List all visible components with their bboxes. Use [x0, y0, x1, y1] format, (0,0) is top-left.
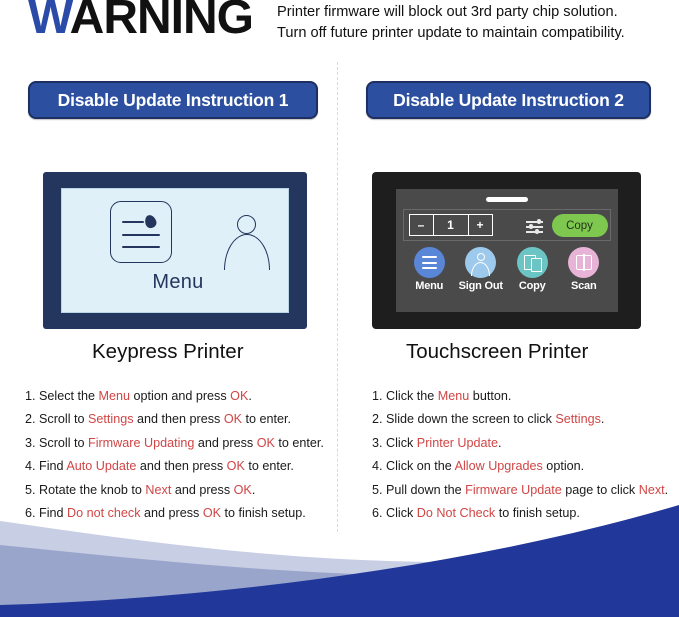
instruction-text: to enter. [245, 459, 294, 473]
scan-icon-beam [583, 254, 585, 271]
app-menu-label: Menu [406, 280, 452, 292]
hamburger-icon-line-3 [422, 267, 437, 269]
instruction-text: and then press [136, 459, 226, 473]
instruction-text: . [248, 389, 252, 403]
instruction-text: . [601, 412, 605, 426]
instruction-step: 1. Click the Menu button. [372, 390, 672, 403]
hamburger-icon-line-1 [422, 256, 437, 258]
instruction-highlight: Printer Update [417, 436, 498, 450]
hamburger-icon-line-2 [422, 262, 437, 264]
person-icon-head [237, 215, 256, 234]
decorative-swoosh [0, 487, 679, 617]
settings-sliders-icon[interactable] [526, 218, 543, 235]
instruction-highlight: Settings [88, 412, 134, 426]
header-description: Printer firmware will block out 3rd part… [277, 2, 677, 44]
person-icon [224, 215, 270, 259]
instruction-text: to enter. [275, 436, 324, 450]
touchscreen-screen: – 1 + Copy [396, 189, 618, 312]
person-icon[interactable] [465, 247, 496, 278]
menu-icon-line-3 [122, 246, 160, 248]
instruction-text: 3. Click [372, 436, 417, 450]
warning-title-rest: ARNING [70, 0, 253, 44]
column-divider [337, 62, 338, 532]
hamburger-icon[interactable] [414, 247, 445, 278]
instruction-text: 3. Scroll to [25, 436, 88, 450]
app-copy-label: Copy [509, 280, 555, 292]
app-sign-out-label: Sign Out [458, 280, 504, 292]
keypress-printer-illustration: Menu [43, 172, 307, 329]
menu-document-icon [110, 201, 172, 263]
instruction-step: 4. Find Auto Update and then press OK to… [25, 460, 335, 473]
header-line-2: Turn off future printer update to mainta… [277, 23, 677, 44]
touchscreen-app-row: Menu Sign Out Copy [404, 247, 610, 292]
instruction-text: 4. Click on the [372, 459, 455, 473]
banner-instruction-1: Disable Update Instruction 1 [28, 81, 318, 119]
instruction-text: 2. Slide down the screen to click [372, 412, 555, 426]
instruction-text: 2. Scroll to [25, 412, 88, 426]
instruction-highlight: OK [257, 436, 275, 450]
copy-action-button[interactable]: Copy [552, 214, 608, 237]
app-sign-out[interactable]: Sign Out [458, 247, 504, 292]
app-scan[interactable]: Scan [561, 247, 607, 292]
touchscreen-printer-title: Touchscreen Printer [406, 340, 588, 364]
instruction-text: and press [194, 436, 256, 450]
stepper-plus-button[interactable]: + [468, 215, 492, 235]
instruction-highlight: Settings [555, 412, 601, 426]
banner-instruction-2: Disable Update Instruction 2 [366, 81, 651, 119]
person-icon-head [477, 253, 485, 261]
warning-title-w: W [28, 0, 70, 44]
instruction-highlight: Allow Upgrades [455, 459, 543, 473]
instruction-text: and then press [134, 412, 224, 426]
touchscreen-printer-illustration: – 1 + Copy [372, 172, 641, 329]
instruction-text: button. [469, 389, 511, 403]
app-copy[interactable]: Copy [509, 247, 555, 292]
app-scan-label: Scan [561, 280, 607, 292]
person-icon-body [471, 262, 490, 276]
keypress-screen-label: Menu [62, 271, 288, 294]
stepper-minus-button[interactable]: – [410, 215, 434, 235]
instruction-highlight: Menu [438, 389, 470, 403]
instruction-highlight: OK [227, 459, 245, 473]
person-icon-body [224, 234, 270, 270]
touchscreen-top-row: – 1 + Copy [403, 209, 611, 241]
instruction-step: 1. Select the Menu option and press OK. [25, 390, 335, 403]
sliders-icon-knob-2 [529, 224, 534, 229]
keypress-printer-title: Keypress Printer [92, 340, 244, 364]
instruction-highlight: Firmware Updating [88, 436, 194, 450]
instruction-highlight: OK [230, 389, 248, 403]
instruction-text: to enter. [242, 412, 291, 426]
header: WARNING Printer firmware will block out … [0, 0, 679, 58]
instruction-text: 1. Click the [372, 389, 438, 403]
instruction-step: 3. Click Printer Update. [372, 437, 672, 450]
instruction-highlight: Menu [99, 389, 131, 403]
instruction-step: 2. Slide down the screen to click Settin… [372, 413, 672, 426]
header-line-1: Printer firmware will block out 3rd part… [277, 2, 677, 23]
copies-stepper[interactable]: – 1 + [409, 214, 493, 236]
speaker-bar [486, 197, 528, 202]
copy-document-icon[interactable] [517, 247, 548, 278]
warning-title: WARNING [28, 0, 253, 42]
menu-icon-line-2 [122, 234, 160, 236]
instruction-highlight: OK [224, 412, 242, 426]
instruction-step: 3. Scroll to Firmware Updating and press… [25, 437, 335, 450]
instruction-highlight: Auto Update [66, 459, 136, 473]
instruction-text: option. [543, 459, 584, 473]
poster-canvas: WARNING Printer firmware will block out … [0, 0, 679, 617]
menu-icon-line-1 [122, 221, 144, 223]
instruction-step: 4. Click on the Allow Upgrades option. [372, 460, 672, 473]
keypress-screen: Menu [61, 188, 289, 313]
instruction-text: option and press [130, 389, 230, 403]
sliders-icon-knob-3 [535, 229, 540, 234]
stepper-value: 1 [434, 215, 468, 235]
sliders-icon-knob-1 [537, 219, 542, 224]
scan-icon[interactable] [568, 247, 599, 278]
instruction-text: . [498, 436, 502, 450]
ink-drop-icon [143, 214, 158, 230]
instruction-text: 1. Select the [25, 389, 99, 403]
app-menu[interactable]: Menu [406, 247, 452, 292]
instruction-text: 4. Find [25, 459, 66, 473]
copy-icon-page-front [531, 258, 542, 272]
instruction-step: 2. Scroll to Settings and then press OK … [25, 413, 335, 426]
